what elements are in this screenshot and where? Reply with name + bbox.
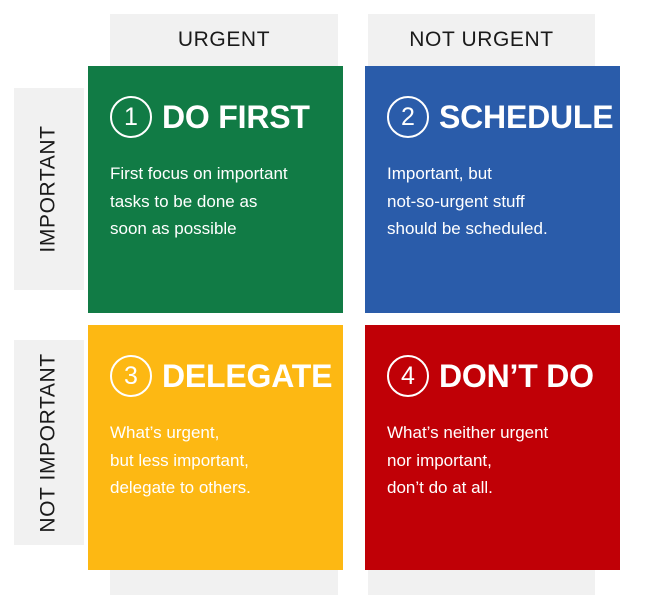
description-line: delegate to others. — [110, 474, 321, 502]
row-header-important-label: IMPORTANT — [37, 125, 61, 252]
description-line: soon as possible — [110, 215, 321, 243]
description-line: tasks to be done as — [110, 188, 321, 216]
column-header-not-urgent: NOT URGENT — [368, 14, 595, 66]
number-badge-1-icon: 1 — [110, 96, 152, 138]
quadrant-dont-do-header: 4 DON’T DO — [387, 355, 598, 397]
description-line: First focus on important — [110, 160, 321, 188]
row-header-not-important: NOT IMPORTANT — [14, 340, 84, 545]
description-line: don’t do at all. — [387, 474, 598, 502]
description-line: but less important, — [110, 447, 321, 475]
column-header-urgent: URGENT — [110, 14, 338, 66]
quadrant-schedule-title: SCHEDULE — [439, 101, 613, 133]
number-badge-4-icon: 4 — [387, 355, 429, 397]
quadrant-delegate-header: 3 DELEGATE — [110, 355, 321, 397]
row-header-important: IMPORTANT — [14, 88, 84, 290]
description-line: should be scheduled. — [387, 215, 598, 243]
quadrant-do-first[interactable]: 1 DO FIRST First focus on important task… — [88, 66, 343, 313]
quadrant-delegate-title: DELEGATE — [162, 360, 332, 392]
row-header-not-important-label: NOT IMPORTANT — [37, 353, 61, 532]
quadrant-delegate-description: What’s urgent, but less important, deleg… — [110, 419, 321, 502]
quadrant-do-first-header: 1 DO FIRST — [110, 96, 321, 138]
description-line: What’s neither urgent — [387, 419, 598, 447]
description-line: not-so-urgent stuff — [387, 188, 598, 216]
description-line: What’s urgent, — [110, 419, 321, 447]
quadrant-dont-do-title: DON’T DO — [439, 360, 594, 392]
quadrant-dont-do-description: What’s neither urgent nor important, don… — [387, 419, 598, 502]
quadrant-do-first-title: DO FIRST — [162, 101, 310, 133]
quadrant-schedule-header: 2 SCHEDULE — [387, 96, 598, 138]
eisenhower-matrix: URGENT NOT URGENT IMPORTANT NOT IMPORTAN… — [0, 0, 650, 600]
quadrant-dont-do[interactable]: 4 DON’T DO What’s neither urgent nor imp… — [365, 325, 620, 570]
number-badge-3-icon: 3 — [110, 355, 152, 397]
description-line: nor important, — [387, 447, 598, 475]
column-header-urgent-label: URGENT — [178, 28, 270, 52]
quadrant-do-first-description: First focus on important tasks to be don… — [110, 160, 321, 243]
quadrant-schedule-description: Important, but not-so-urgent stuff shoul… — [387, 160, 598, 243]
column-header-not-urgent-label: NOT URGENT — [409, 28, 553, 52]
number-badge-2-icon: 2 — [387, 96, 429, 138]
description-line: Important, but — [387, 160, 598, 188]
quadrant-schedule[interactable]: 2 SCHEDULE Important, but not-so-urgent … — [365, 66, 620, 313]
quadrant-delegate[interactable]: 3 DELEGATE What’s urgent, but less impor… — [88, 325, 343, 570]
